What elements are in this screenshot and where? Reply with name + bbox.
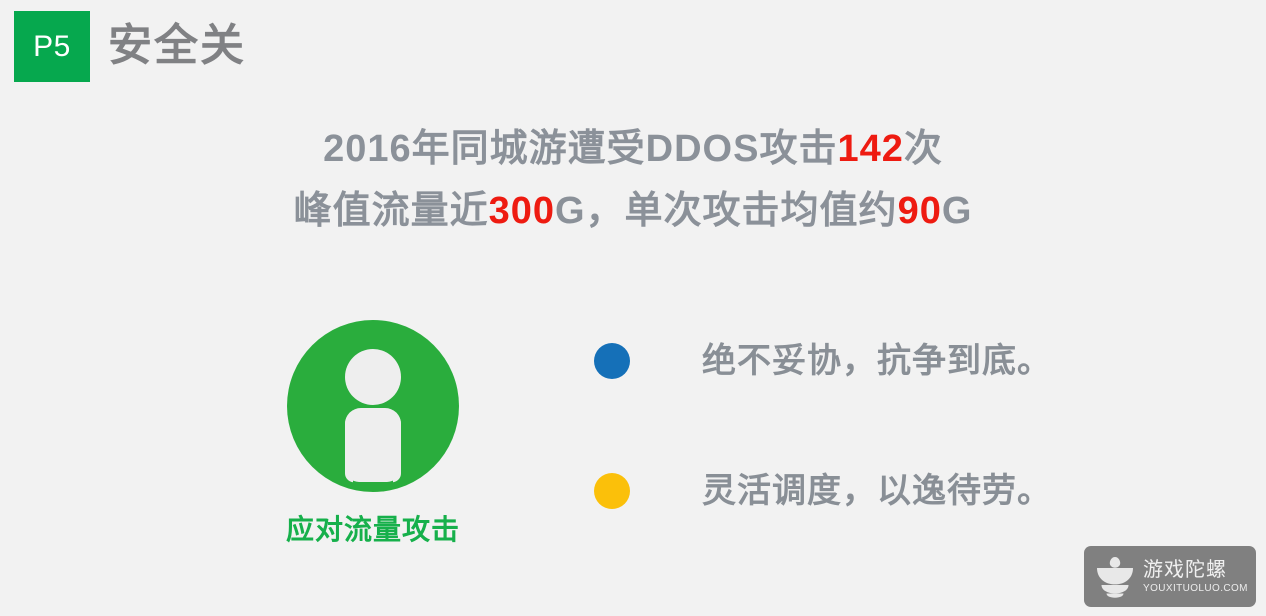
list-item: 绝不妥协，抗争到底。 xyxy=(594,330,1064,392)
watermark-brand-cn: 游戏陀螺 xyxy=(1143,559,1248,582)
watermark-brand-en: YOUXITUOLUO.COM xyxy=(1143,582,1248,595)
bullet-dot-icon xyxy=(594,473,630,509)
list-item: 灵活调度，以逸待劳。 xyxy=(594,460,1064,522)
page-title: 安全关 xyxy=(108,12,246,80)
headline-block: 2016年同城游遭受DDOS攻击142次 峰值流量近300G，单次攻击均值约90… xyxy=(0,118,1266,242)
headline-line-2: 峰值流量近300G，单次攻击均值约90G xyxy=(0,180,1266,242)
watermark-text: 游戏陀螺 YOUXITUOLUO.COM xyxy=(1143,559,1248,595)
watermark-badge: 游戏陀螺 YOUXITUOLUO.COM xyxy=(1084,546,1256,607)
headline-line-1: 2016年同城游遭受DDOS攻击142次 xyxy=(0,118,1266,180)
bullet-list: 绝不妥协，抗争到底。 灵活调度，以逸待劳。 xyxy=(594,330,1064,522)
person-icon xyxy=(287,320,459,492)
defense-icon-caption: 应对流量攻击 xyxy=(255,512,491,548)
page-number-badge: P5 xyxy=(14,11,90,82)
slide-header: P5 安全关 xyxy=(0,0,1266,95)
defense-icon-block: 应对流量攻击 xyxy=(255,320,491,548)
spinning-top-icon xyxy=(1092,554,1138,600)
bullet-text: 绝不妥协，抗争到底。 xyxy=(702,339,1052,383)
bullet-text: 灵活调度，以逸待劳。 xyxy=(702,469,1052,513)
bullet-dot-icon xyxy=(594,343,630,379)
